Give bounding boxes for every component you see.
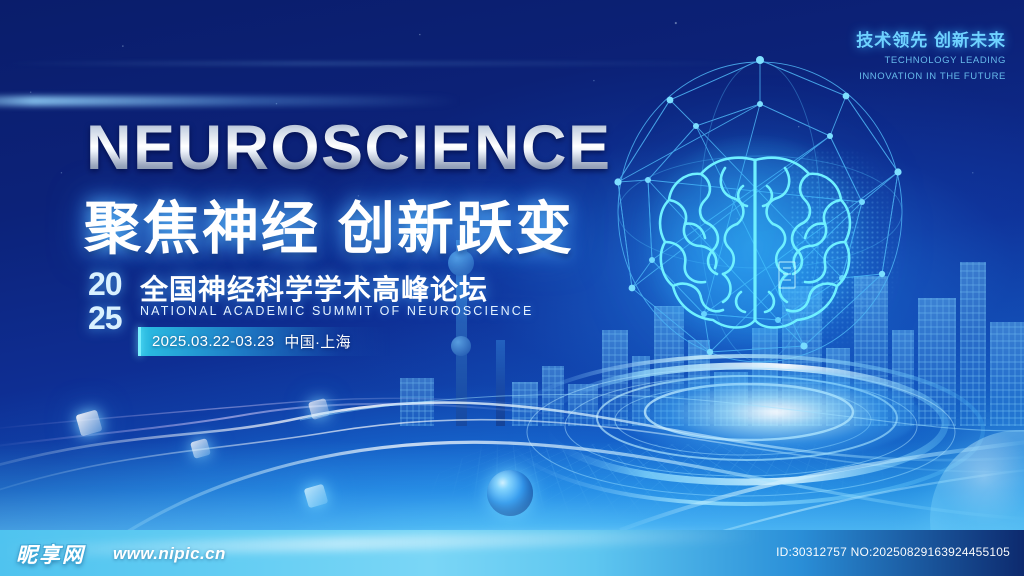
subtitle-english: NATIONAL ACADEMIC SUMMIT OF NEUROSCIENCE	[140, 304, 533, 318]
headline-english: NEUROSCIENCE	[86, 116, 612, 180]
date-location-bar: 2025.03.22-03.23 中国·上海	[138, 327, 390, 356]
tagline-en-line2: INNOVATION IN THE FUTURE	[856, 71, 1006, 83]
headline-chinese: 聚焦神经 创新跃变	[84, 183, 574, 265]
bottom-light-fade	[0, 440, 1024, 530]
event-date: 2025.03.22-03.23	[138, 333, 274, 350]
year-bottom: 25	[88, 301, 138, 335]
event-location: 中国·上海	[274, 331, 351, 352]
nipic-logo: 昵享网	[16, 539, 85, 569]
year-block: 20 25	[88, 267, 138, 335]
nipic-url[interactable]: www.nipic.cn	[113, 544, 226, 564]
year-top: 20	[88, 267, 138, 301]
tagline-en-line1: TECHNOLOGY LEADING	[856, 55, 1006, 67]
watermark-bar: 昵享网 www.nipic.cn ID:30312757 NO:20250829…	[0, 530, 1024, 576]
poster-canvas: 技术领先 创新未来 TECHNOLOGY LEADING INNOVATION …	[0, 0, 1024, 576]
tagline-cn: 技术领先 创新未来	[856, 26, 1006, 51]
tagline-block: 技术领先 创新未来 TECHNOLOGY LEADING INNOVATION …	[856, 26, 1006, 83]
subtitle-chinese: 全国神经科学学术高峰论坛	[140, 268, 488, 308]
image-id-text: ID:30312757 NO:20250829163924455105	[776, 545, 1010, 559]
